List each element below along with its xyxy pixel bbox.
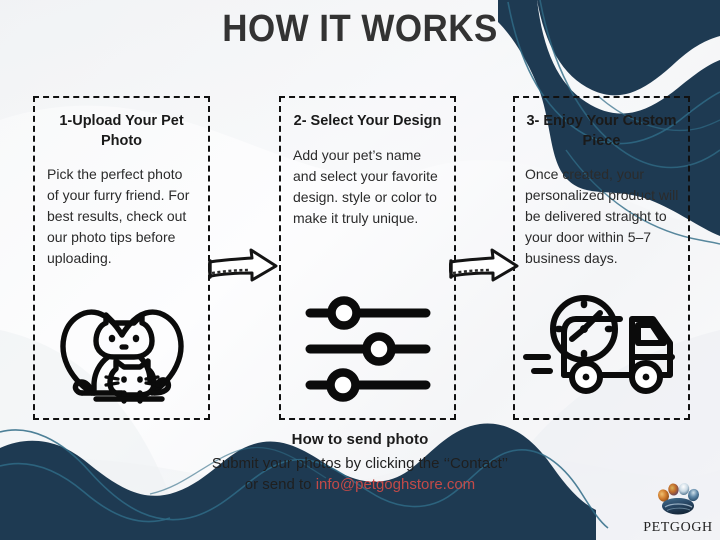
poster-canvas: HOW IT WORKS 1-Upload Your Pet Photo Pic… [0,0,720,540]
sliders-icon [298,293,438,405]
footer-instruction: Submit your photos by clicking the ‘‘Con… [0,455,720,472]
right-arrow-icon [449,246,519,290]
step-card-1: 1-Upload Your Pet Photo Pick the perfect… [33,96,210,420]
step-arrow-2 [449,246,519,295]
paw-print-icon [653,482,703,516]
step-card-3-heading: 3- Enjoy Your Custom Piece [525,112,678,151]
contact-email-link[interactable]: info@petgoghstore.com [316,476,476,493]
footer-email-prefix: or send to [245,476,316,493]
footer: How to send photo Submit your photos by … [0,431,720,493]
step-card-1-icon-wrap [35,293,208,410]
dog-cat-heart-icon [52,293,192,405]
right-arrow-icon [208,246,278,290]
step-card-2-heading: 2- Select Your Design [291,112,444,132]
step-arrow-1 [208,246,278,295]
brand-logo[interactable]: PETGOGH [640,482,716,534]
step-card-3-icon-wrap [515,295,688,404]
step-card-3-body: Once created, your personalized product … [525,164,682,269]
step-card-2-icon-wrap [281,293,454,410]
page-title: HOW IT WORKS [29,8,691,51]
delivery-truck-clock-icon [520,295,684,399]
step-card-2-body: Add your pet’s name and select your favo… [293,145,442,229]
footer-email-line: or send to info@petgoghstore.com [0,476,720,493]
step-card-2: 2- Select Your Design Add your pet’s nam… [279,96,456,420]
footer-title: How to send photo [0,431,720,448]
step-card-3: 3- Enjoy Your Custom Piece Once created,… [513,96,690,420]
brand-wordmark: PETGOGH [640,520,716,536]
step-card-1-body: Pick the perfect photo of your furry fri… [47,164,196,269]
step-card-1-heading: 1-Upload Your Pet Photo [45,112,198,151]
